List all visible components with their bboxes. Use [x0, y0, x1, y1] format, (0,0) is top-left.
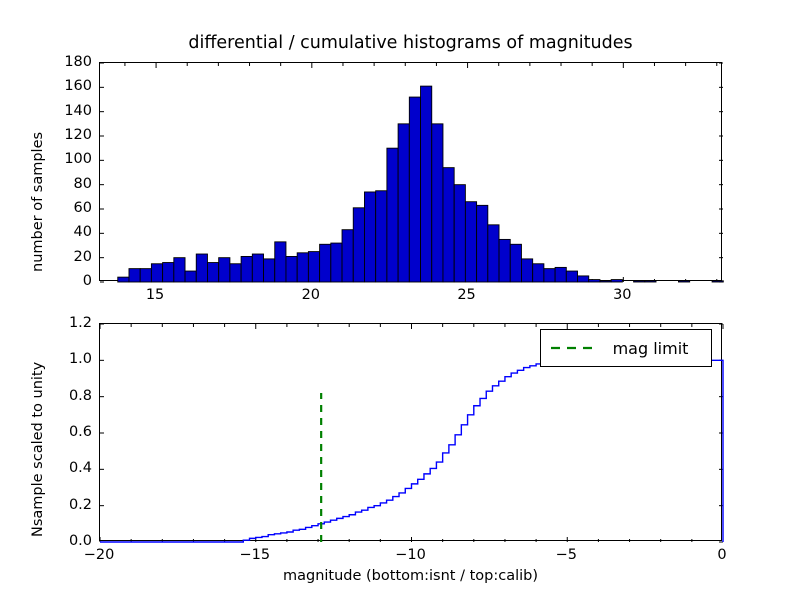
- top-ytick-label: 100: [64, 151, 92, 167]
- histogram-bar: [634, 281, 645, 282]
- histogram-bar: [118, 277, 129, 282]
- top-ytick-label: 20: [74, 249, 92, 265]
- top-ytick-label: 80: [74, 176, 92, 192]
- histogram-bar: [376, 191, 387, 282]
- histogram-bar: [600, 281, 611, 282]
- top-xtick-label: 15: [146, 287, 164, 303]
- bottom-ytick-label: 0.2: [69, 497, 92, 513]
- histogram-bar: [443, 168, 454, 282]
- histogram-bar: [678, 281, 689, 282]
- top-xtick-label: 25: [457, 287, 475, 303]
- histogram-bar: [555, 267, 566, 282]
- histogram-bar: [409, 97, 420, 282]
- histogram-bar: [174, 258, 185, 282]
- mag-limit-line-icon: [550, 341, 596, 355]
- histogram-plot: [100, 63, 723, 282]
- histogram-bar: [432, 124, 443, 282]
- top-xtick-label: 20: [302, 287, 320, 303]
- bottom-panel-xlabel: magnitude (bottom:isnt / top:calib): [99, 568, 722, 584]
- histogram-bar: [521, 259, 532, 282]
- bottom-xtick-label: −15: [239, 547, 270, 563]
- histogram-bar: [207, 263, 218, 282]
- page-title: differential / cumulative histograms of …: [99, 33, 722, 53]
- histogram-bar: [578, 276, 589, 282]
- histogram-bar: [320, 244, 331, 282]
- histogram-bar: [566, 271, 577, 282]
- histogram-bar: [712, 281, 723, 282]
- top-ytick-label: 160: [64, 78, 92, 94]
- histogram-bar: [241, 256, 252, 282]
- bottom-panel-ylabel: Nsample scaled to unity: [30, 362, 46, 537]
- histogram-bar: [331, 243, 342, 282]
- histogram-bar: [275, 242, 286, 282]
- histogram-bar: [499, 239, 510, 282]
- histogram-bar: [140, 269, 151, 282]
- bottom-ytick-label: 1.0: [69, 351, 92, 367]
- legend[interactable]: mag limit: [540, 329, 712, 367]
- top-ytick-label: 60: [74, 200, 92, 216]
- top-xtick-label: 30: [613, 287, 631, 303]
- histogram-bar: [510, 244, 521, 282]
- top-ytick-label: 0: [83, 273, 92, 289]
- histogram-bar: [342, 230, 353, 282]
- top-ytick-label: 140: [64, 103, 92, 119]
- top-ytick-label: 180: [64, 54, 92, 70]
- bottom-xtick-label: 0: [717, 547, 726, 563]
- histogram-bar: [611, 280, 622, 282]
- top-panel-ylabel: number of samples: [30, 132, 46, 272]
- histogram-bar: [465, 202, 476, 282]
- histogram-bar: [589, 280, 600, 282]
- histogram-bar: [544, 269, 555, 282]
- legend-label-mag-limit: mag limit: [596, 339, 711, 358]
- histogram-bar: [151, 264, 162, 282]
- bottom-ytick-label: 0.4: [69, 460, 92, 476]
- histogram-bar: [533, 264, 544, 282]
- histogram-bar: [286, 256, 297, 282]
- histogram-bar: [477, 205, 488, 282]
- histogram-bar: [387, 148, 398, 282]
- histogram-bar: [645, 281, 656, 282]
- bottom-xtick-label: −5: [556, 547, 577, 563]
- histogram-bar: [308, 252, 319, 282]
- histogram-bar: [488, 225, 499, 282]
- histogram-bar: [364, 192, 375, 282]
- histogram-bar: [185, 271, 196, 282]
- histogram-bar: [196, 254, 207, 282]
- histogram-bar: [163, 263, 174, 282]
- cumulative-curve: [100, 360, 723, 542]
- histogram-bar: [129, 269, 140, 282]
- top-ytick-label: 40: [74, 224, 92, 240]
- bottom-ytick-label: 0.8: [69, 388, 92, 404]
- histogram-bar: [264, 259, 275, 282]
- histogram-bar: [353, 208, 364, 282]
- bottom-xtick-label: −20: [84, 547, 115, 563]
- histogram-bar: [454, 185, 465, 282]
- histogram-bar: [297, 253, 308, 282]
- figure-canvas: differential / cumulative histograms of …: [0, 0, 800, 600]
- histogram-bar: [398, 124, 409, 282]
- bottom-xtick-label: −10: [395, 547, 426, 563]
- top-panel-axes: [99, 62, 722, 281]
- bottom-ytick-label: 1.2: [69, 315, 92, 331]
- top-ytick-label: 120: [64, 127, 92, 143]
- histogram-bar: [230, 264, 241, 282]
- bottom-ytick-label: 0.6: [69, 424, 92, 440]
- histogram-bar: [252, 254, 263, 282]
- histogram-bar: [421, 86, 432, 282]
- histogram-bar: [219, 258, 230, 282]
